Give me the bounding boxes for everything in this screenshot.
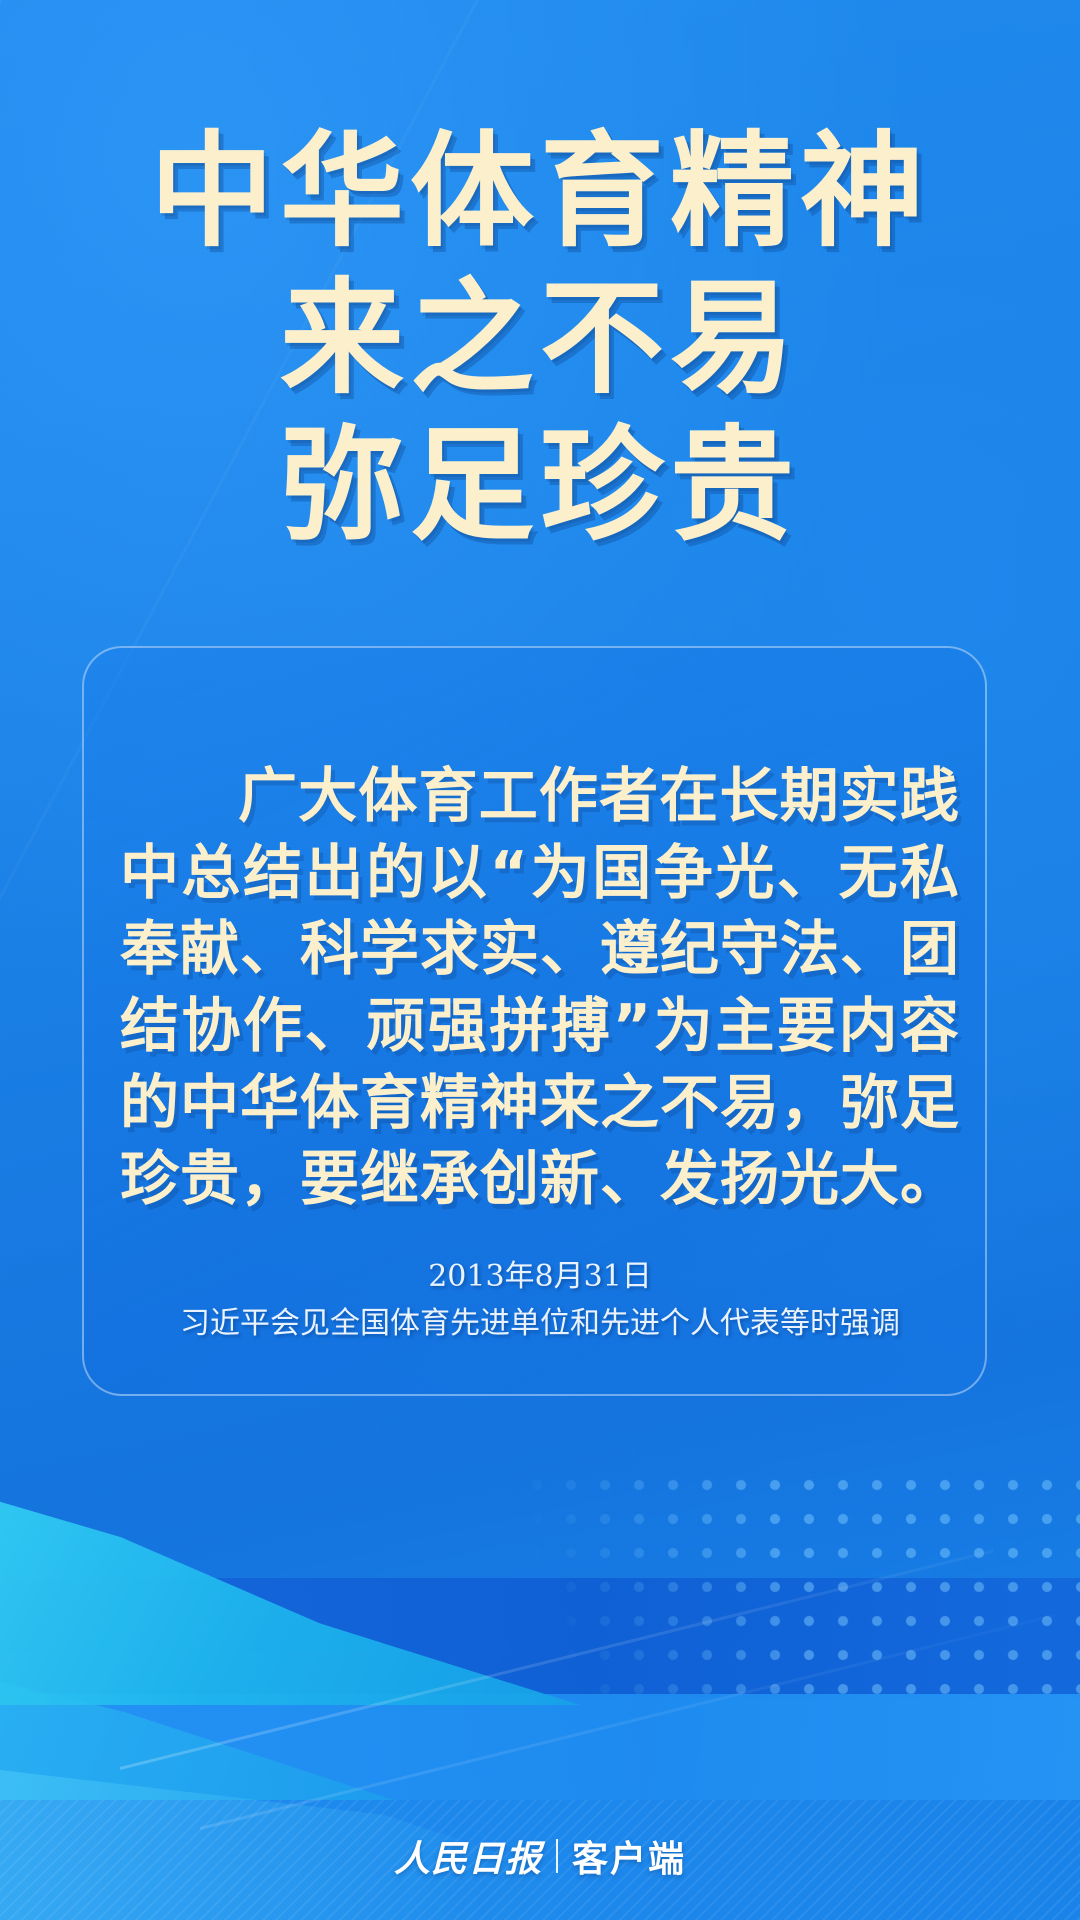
publisher-wordmark: 人民日报: [394, 1830, 542, 1882]
footer-logo: 人民日报 客户端: [0, 1830, 1080, 1882]
headline-line-2: 来之不易: [0, 275, 1080, 404]
logo-separator-icon: [556, 1839, 558, 1873]
quote-text: 广大体育工作者在长期实践中总结出的以“为国争光、无私奉献、科学求实、遵纪守法、团…: [120, 758, 960, 1218]
headline-line-3: 弥足珍贵: [0, 422, 1080, 551]
halftone-dot-pattern: [520, 1468, 1080, 1698]
attribution-date: 2013年8月31日: [120, 1254, 960, 1301]
quote-attribution: 2013年8月31日 习近平会见全国体育先进单位和先进个人代表等时强调: [120, 1254, 960, 1347]
attribution-source: 习近平会见全国体育先进单位和先进个人代表等时强调: [120, 1301, 960, 1348]
headline-line-1: 中华体育精神: [0, 128, 1080, 257]
poster-root: 中华体育精神 来之不易 弥足珍贵 广大体育工作者在长期实践中总结出的以“为国争光…: [0, 0, 1080, 1920]
product-wordmark: 客户端: [572, 1830, 686, 1882]
page-title: 中华体育精神 来之不易 弥足珍贵: [0, 128, 1080, 569]
